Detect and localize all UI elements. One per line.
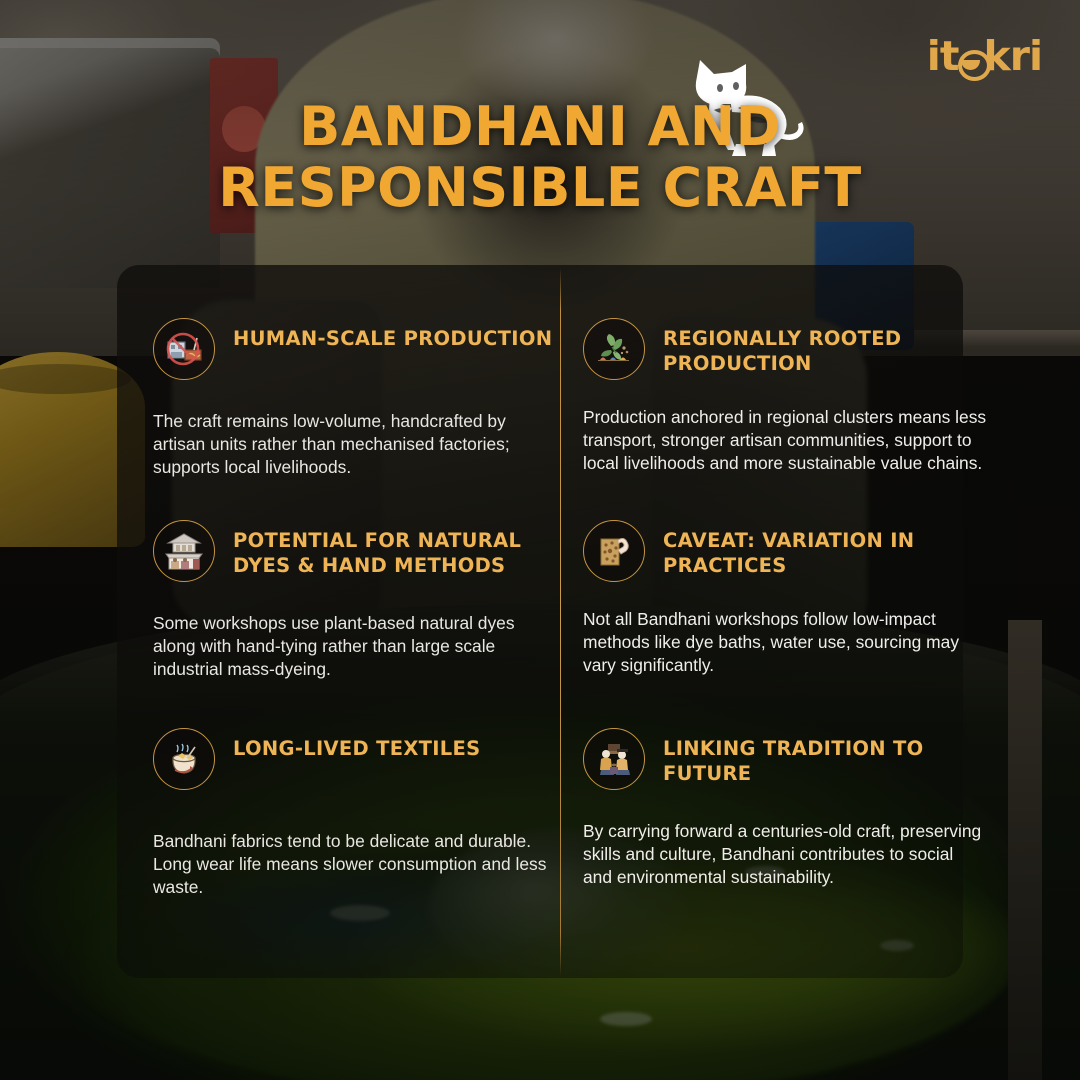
feature-item-title: LINKING TRADITION TO FUTURE — [663, 728, 987, 786]
feature-item-title: HUMAN-SCALE PRODUCTION — [233, 318, 552, 352]
hand-holding-fabric-swatch-icon — [583, 520, 645, 582]
column-divider — [560, 268, 561, 976]
brand-logo[interactable]: itkri — [927, 36, 1042, 77]
feature-item-caveat-variation-in-practices: CAVEAT: VARIATION IN PRACTICES Not all B… — [583, 520, 987, 677]
feature-item-body: Not all Bandhani workshops follow low-im… — [583, 608, 987, 677]
page-title-line-1: BANDHANI AND — [299, 95, 781, 158]
feature-item-body: By carrying forward a centuries-old craf… — [583, 820, 987, 889]
two-artisans-icon — [583, 728, 645, 790]
feature-item-header: LONG-LIVED TEXTILES — [153, 728, 557, 790]
feature-item-body: The craft remains low-volume, handcrafte… — [153, 410, 557, 479]
basket-bowl-icon — [958, 48, 983, 73]
feature-item-body: Bandhani fabrics tend to be delicate and… — [153, 830, 557, 899]
feature-item-title: CAVEAT: VARIATION IN PRACTICES — [663, 520, 987, 578]
feature-item-body: Some workshops use plant-based natural d… — [153, 612, 557, 681]
feature-item-header: REGIONALLY ROOTED PRODUCTION — [583, 318, 987, 380]
page-title-line-2: RESPONSIBLE CRAFT — [0, 157, 1080, 218]
no-factory-icon — [153, 318, 215, 380]
feature-item-title: REGIONALLY ROOTED PRODUCTION — [663, 318, 987, 376]
feature-item-human-scale-production: HUMAN-SCALE PRODUCTION The craft remains… — [153, 318, 557, 479]
feature-item-header: CAVEAT: VARIATION IN PRACTICES — [583, 520, 987, 582]
feature-item-body: Production anchored in regional clusters… — [583, 406, 987, 475]
feature-item-header: LINKING TRADITION TO FUTURE — [583, 728, 987, 790]
artisan-workshop-building-icon — [153, 520, 215, 582]
feature-item-natural-dyes-hand-methods: POTENTIAL FOR NATURAL DYES & HAND METHOD… — [153, 520, 557, 681]
feature-item-title: LONG-LIVED TEXTILES — [233, 728, 481, 762]
steaming-dye-pot-icon — [153, 728, 215, 790]
brand-logo-text-part2: kri — [983, 32, 1042, 80]
feature-item-linking-tradition-to-future: LINKING TRADITION TO FUTURE By carrying … — [583, 728, 987, 889]
feature-item-header: POTENTIAL FOR NATURAL DYES & HAND METHOD… — [153, 520, 557, 582]
feature-item-long-lived-textiles: LONG-LIVED TEXTILES Bandhani fabrics ten… — [153, 728, 557, 899]
brand-logo-text-part1: it — [927, 32, 959, 80]
page-title: BANDHANI AND RESPONSIBLE CRAFT — [0, 96, 1080, 218]
feature-item-title: POTENTIAL FOR NATURAL DYES & HAND METHOD… — [233, 520, 557, 578]
header: itkri BANDHANI AND RESPONSIBLE CRAFT — [0, 0, 1080, 250]
natural-dye-leaves-icon — [583, 318, 645, 380]
feature-item-header: HUMAN-SCALE PRODUCTION — [153, 318, 557, 380]
feature-item-regionally-rooted-production: REGIONALLY ROOTED PRODUCTION Production … — [583, 318, 987, 475]
